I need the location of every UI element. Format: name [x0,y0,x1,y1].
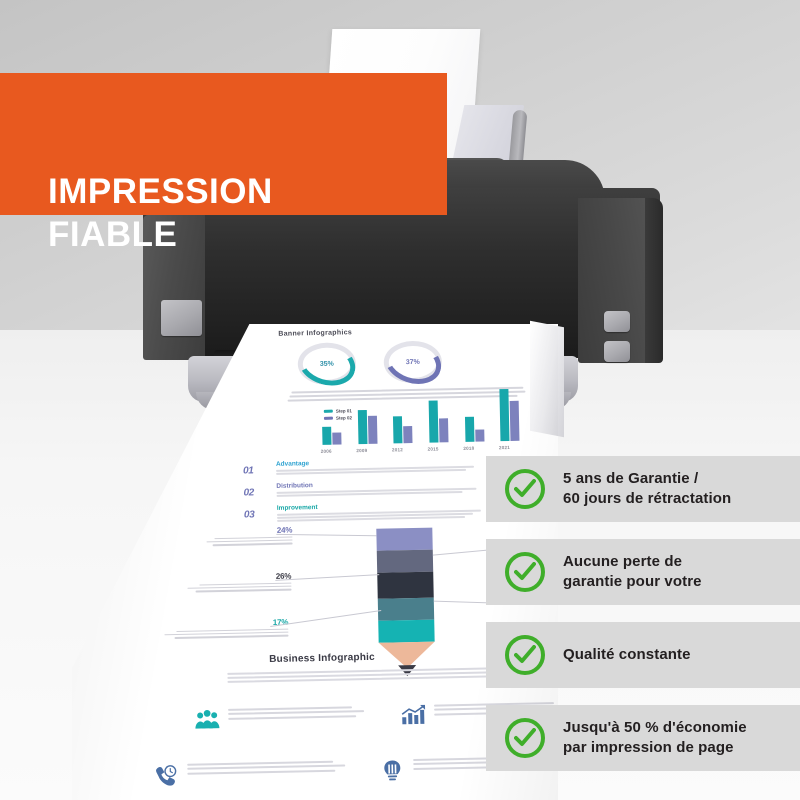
check-circle-icon [505,635,545,675]
feature-label: 5 ans de Garantie / 60 jours de rétracta… [563,469,731,509]
pencil-stat: 17% [136,618,288,640]
bar [475,430,484,442]
step-body-text [277,510,477,523]
bar-group [501,441,527,442]
headline-line-2: FIABLE [48,214,438,257]
axis-tick-label: 2006 [321,449,332,454]
feature-line-2: 60 jours de rétractation [563,489,731,509]
people-icon [194,709,220,732]
axis-tick-label: 2009 [356,448,367,453]
numbered-steps-list: 01 Advantage 02 Distribution 03 Improvem… [243,456,494,527]
pencil-stat-text [186,536,292,546]
feed-button[interactable] [604,311,630,332]
promo-graphic: Banner Infographics 35% 37% Step 01 [0,0,800,800]
axis-tick-label: 2021 [499,445,510,450]
pencil-stat: 24% [186,526,292,547]
feature-line-1: Qualité constante [563,645,691,665]
list-item: 03 Improvement [244,500,494,527]
feature-line-1: Jusqu'à 50 % d'économie [563,718,747,738]
pencil-segment [377,550,433,573]
bar-chart [321,380,537,444]
donut-chart-2: 37% [383,340,442,383]
lightbulb-icon [379,759,405,782]
donut-chart-group: 35% 37% [297,339,508,385]
feature-line-2: garantie pour votre [563,572,702,592]
axis-tick-label: 2015 [428,446,439,451]
feature-box-3[interactable]: Qualité constante [486,622,800,688]
pencil-segment [378,598,434,621]
growth-chart-icon [400,705,426,728]
feature-box-2[interactable]: Aucune perte de garantie pour votre [486,539,800,605]
pencil-segment [377,572,434,599]
donut-value-label: 35% [297,342,356,385]
feature-text [228,705,394,722]
bar [439,418,449,442]
step-title: Distribution [276,482,313,490]
step-number: 01 [243,465,254,476]
pencil-stat-text [136,628,288,639]
bar [322,427,331,445]
bar [429,400,439,442]
infographic-feature-item [153,760,353,786]
bar-group [394,443,420,444]
check-circle-icon [505,552,545,592]
business-body-text [227,667,527,686]
donut-value-label: 37% [383,340,442,383]
feature-label: Jusqu'à 50 % d'économie par impression d… [563,718,747,758]
feature-box-4[interactable]: Jusqu'à 50 % d'économie par impression d… [486,705,800,771]
pencil-segment [378,620,434,643]
headline-text: IMPRESSION FIABLE [48,171,438,256]
bar [403,426,412,443]
bar [500,389,510,441]
clock-phone-icon [153,764,179,787]
pencil-stat-value: 24% [186,526,292,537]
headline-line-1: IMPRESSION [48,171,438,214]
donut-chart-1: 35% [297,342,356,385]
feature-box-1[interactable]: 5 ans de Garantie / 60 jours de rétracta… [486,456,800,522]
cancel-button[interactable] [604,341,630,362]
axis-tick-label: 2012 [392,447,403,452]
bar-group [358,444,384,445]
feature-line-1: 5 ans de Garantie / [563,469,731,489]
bar [332,432,341,444]
check-circle-icon [505,718,545,758]
infographic-feature-item [194,705,394,731]
feature-line-1: Aucune perte de [563,552,702,572]
feature-label: Qualité constante [563,645,691,665]
step-number: 03 [244,509,255,520]
bar [393,416,403,443]
step-number: 02 [243,487,254,498]
bar-group [465,441,491,442]
headline-banner: IMPRESSION FIABLE [0,73,447,215]
feature-text [187,760,353,777]
bar-group [323,444,349,445]
pencil-stat-text [161,582,291,593]
bar [368,416,378,444]
pencil-segment [376,528,432,551]
bar [510,401,520,441]
bar [465,417,475,442]
feature-line-2: par impression de page [563,738,747,758]
bar-group [429,442,455,443]
axis-tick-label: 2018 [463,446,474,451]
step-title: Improvement [277,504,318,512]
step-title: Advantage [276,460,309,468]
printer-right-shadow [645,198,663,363]
pencil-funnel-chart [376,528,435,669]
pencil-stat-value: 26% [161,572,291,584]
bar [357,410,367,444]
check-circle-icon [505,469,545,509]
pencil-stat: 26% [161,572,291,593]
feature-label: Aucune perte de garantie pour votre [563,552,702,592]
